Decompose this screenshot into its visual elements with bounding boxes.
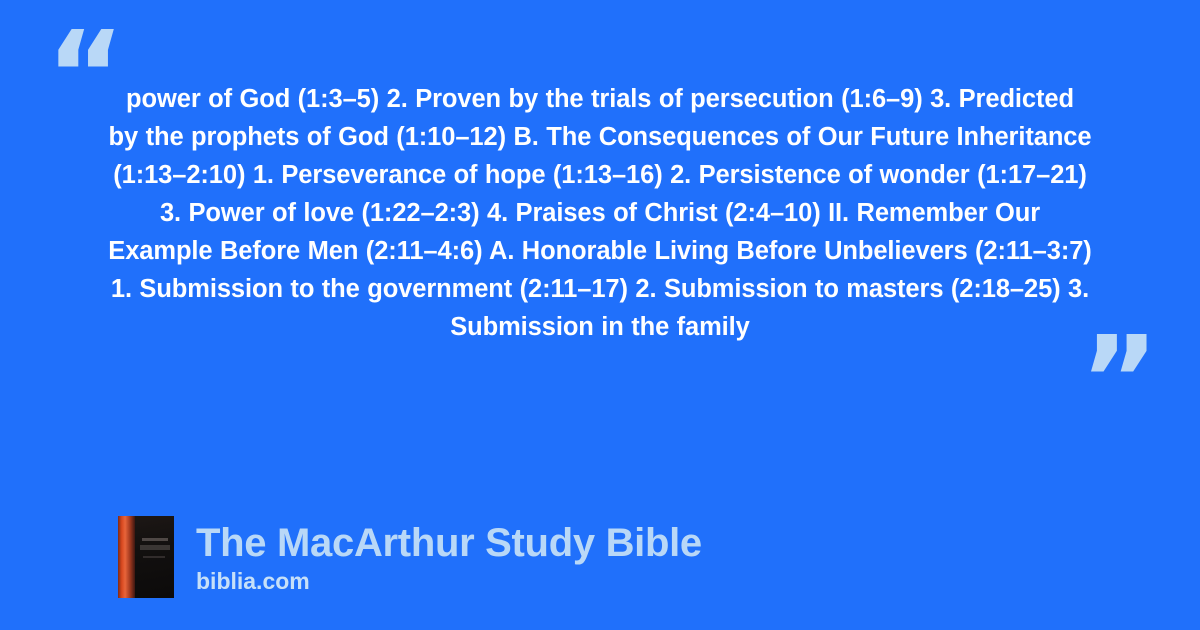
quote-card: “ power of God (1:3–5) 2. Proven by the … <box>0 0 1200 630</box>
quote-text: power of God (1:3–5) 2. Proven by the tr… <box>108 80 1092 346</box>
footer-text-group: The MacArthur Study Bible biblia.com <box>196 520 702 595</box>
footer: The MacArthur Study Bible biblia.com <box>118 516 702 598</box>
close-quote-icon: ” <box>1080 322 1157 442</box>
quote-body: power of God (1:3–5) 2. Proven by the tr… <box>108 80 1092 346</box>
book-title: The MacArthur Study Bible <box>196 520 702 566</box>
site-name: biblia.com <box>196 567 702 595</box>
book-cover-title-line-1 <box>142 538 168 541</box>
book-cover-icon <box>118 516 174 598</box>
book-cover-title-line-2 <box>140 545 170 550</box>
book-cover-spine <box>118 516 135 598</box>
book-cover-title-line-3 <box>143 556 165 558</box>
